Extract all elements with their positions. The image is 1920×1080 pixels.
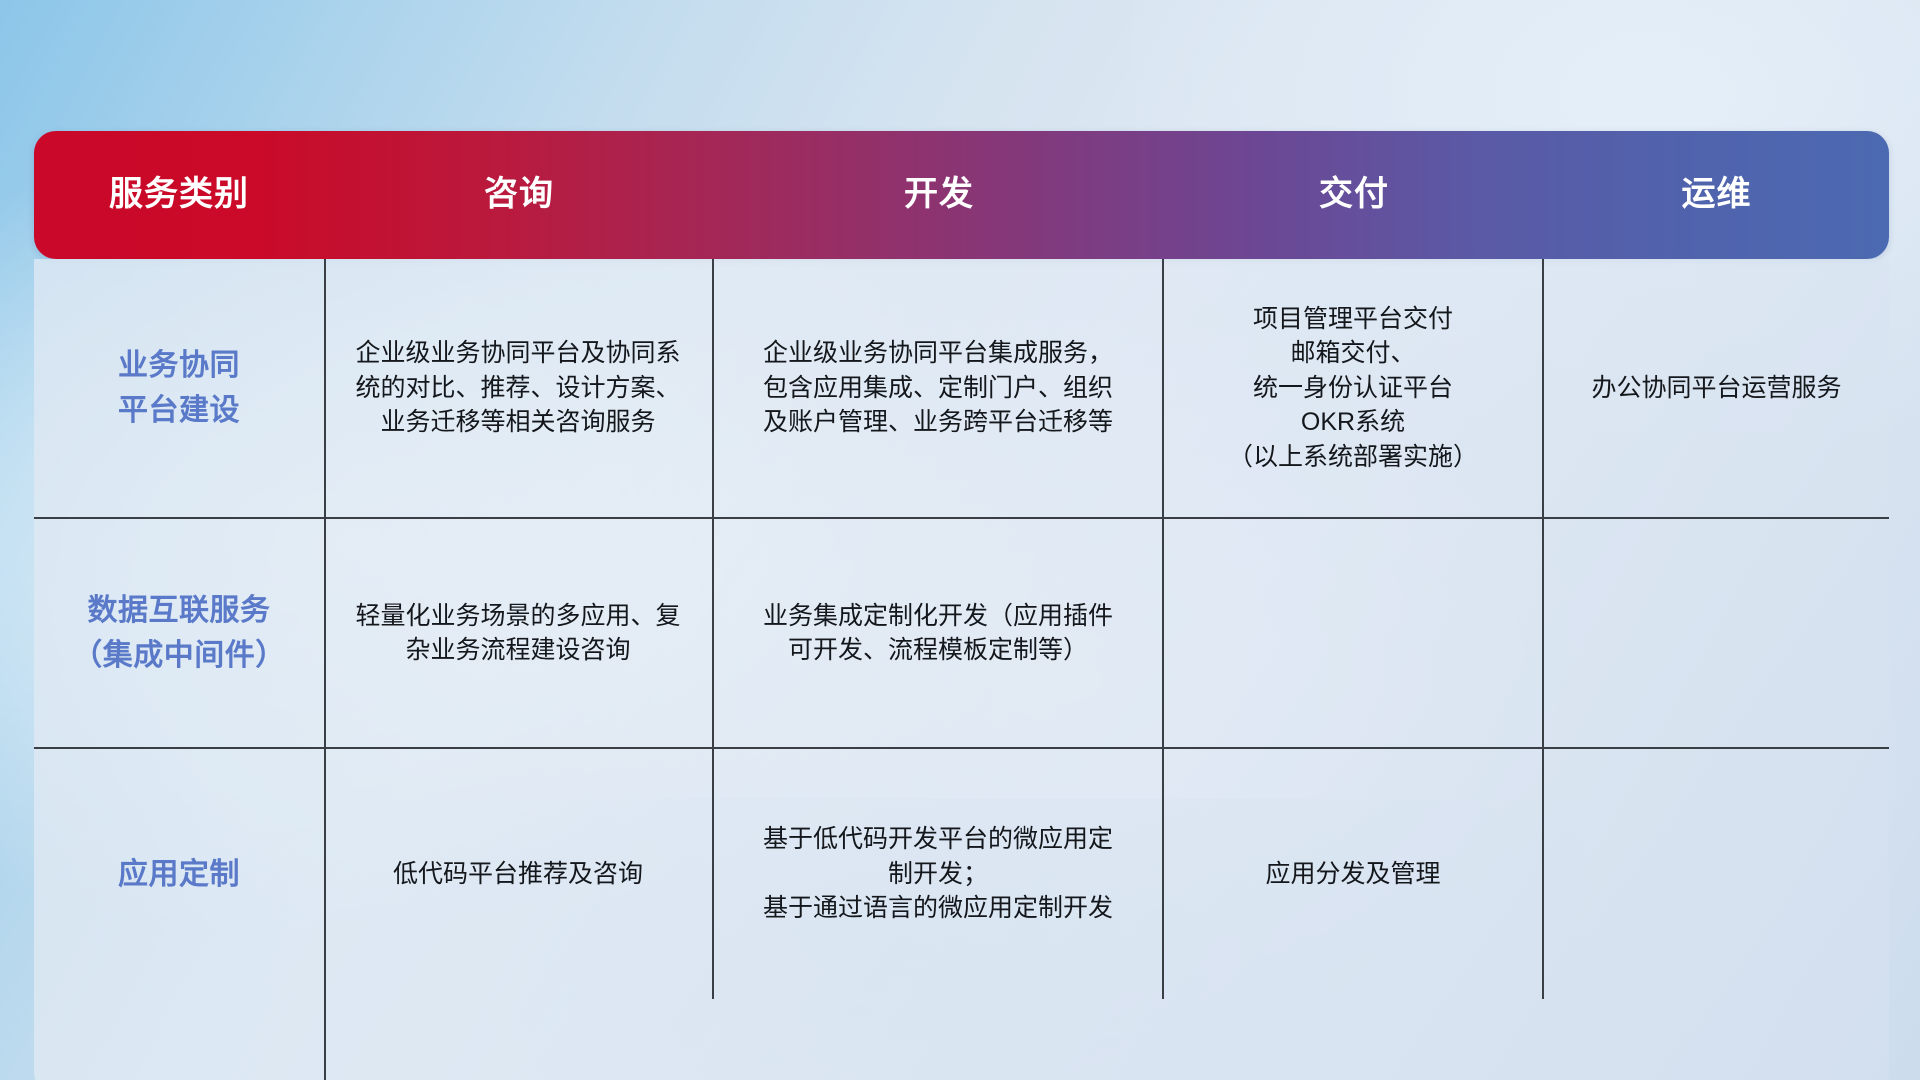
column-header-consulting: 咨询 bbox=[324, 175, 714, 214]
column-header-operations: 运维 bbox=[1544, 175, 1889, 214]
cell-operations bbox=[1544, 749, 1889, 999]
row-label: 应用定制 bbox=[118, 852, 240, 897]
cell-development: 基于低代码开发平台的微应用定 制开发； 基于通过语言的微应用定制开发 bbox=[714, 749, 1164, 999]
table-row: 数据互联服务 （集成中间件） 轻量化业务场景的多应用、复 杂业务流程建设咨询 业… bbox=[34, 519, 1889, 749]
table-header-row: 服务类别 咨询 开发 交付 运维 bbox=[34, 131, 1889, 259]
column-header-service-category: 服务类别 bbox=[34, 175, 324, 214]
service-matrix-table: 服务类别 咨询 开发 交付 运维 业务协同 平台建设 企业级业务协同平台及协同系… bbox=[34, 131, 1889, 959]
cell-consulting: 轻量化业务场景的多应用、复 杂业务流程建设咨询 bbox=[324, 519, 714, 747]
column-header-development: 开发 bbox=[714, 175, 1164, 214]
row-label: 数据互联服务 （集成中间件） bbox=[72, 588, 286, 678]
cell-operations: 办公协同平台运营服务 bbox=[1544, 259, 1889, 517]
row-label-cell: 业务协同 平台建设 bbox=[34, 259, 324, 517]
cell-delivery: 应用分发及管理 bbox=[1164, 749, 1544, 999]
row-label-cell: 数据互联服务 （集成中间件） bbox=[34, 519, 324, 747]
row-label-cell: 应用定制 bbox=[34, 749, 324, 999]
cell-operations bbox=[1544, 519, 1889, 747]
cell-consulting: 低代码平台推荐及咨询 bbox=[324, 749, 714, 999]
cell-delivery: 项目管理平台交付 邮箱交付、 统一身份认证平台 OKR系统 （以上系统部署实施） bbox=[1164, 259, 1544, 517]
cell-development: 业务集成定制化开发（应用插件 可开发、流程模板定制等） bbox=[714, 519, 1164, 747]
table-body: 业务协同 平台建设 企业级业务协同平台及协同系 统的对比、推荐、设计方案、 业务… bbox=[34, 259, 1889, 1080]
table-row: 应用定制 低代码平台推荐及咨询 基于低代码开发平台的微应用定 制开发； 基于通过… bbox=[34, 749, 1889, 999]
cell-development: 企业级业务协同平台集成服务， 包含应用集成、定制门户、组织 及账户管理、业务跨平… bbox=[714, 259, 1164, 517]
row-label: 业务协同 平台建设 bbox=[118, 343, 240, 433]
table-row: 业务协同 平台建设 企业级业务协同平台及协同系 统的对比、推荐、设计方案、 业务… bbox=[34, 259, 1889, 519]
cell-delivery bbox=[1164, 519, 1544, 747]
cell-consulting: 企业级业务协同平台及协同系 统的对比、推荐、设计方案、 业务迁移等相关咨询服务 bbox=[324, 259, 714, 517]
column-header-delivery: 交付 bbox=[1164, 175, 1544, 214]
column-divider bbox=[324, 259, 326, 1080]
